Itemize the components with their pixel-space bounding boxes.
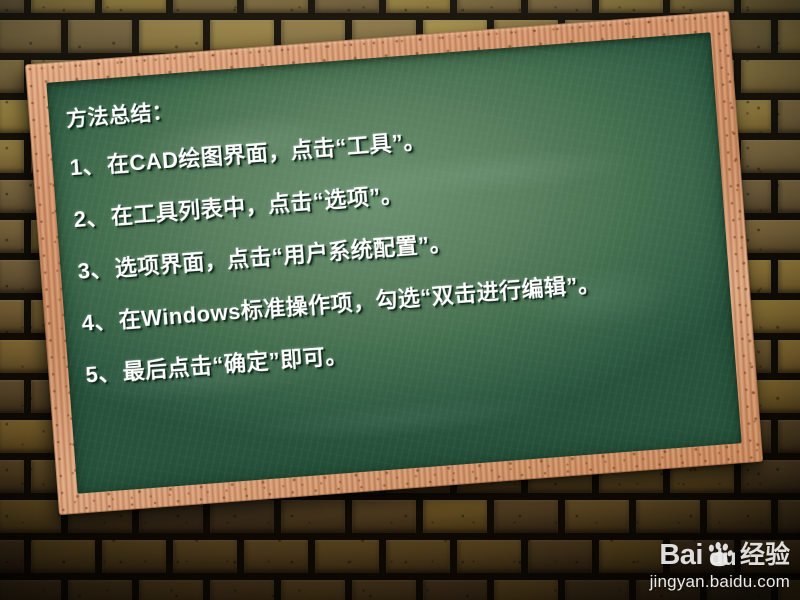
paw-print-icon: du <box>706 542 733 569</box>
baidu-logo: Bai du 经验 <box>650 541 790 570</box>
screenshot-canvas: 方法总结： 1、在CAD绘图界面，点击“工具”。 2、在工具列表中，点击“选项”… <box>0 0 800 600</box>
step-text-3: 选项界面，点击“用户系统配置”。 <box>114 231 453 282</box>
step-number-4: 4、 <box>81 308 118 336</box>
step-text-1: 在CAD绘图界面，点击“工具”。 <box>106 128 427 177</box>
step-number-1: 1、 <box>69 153 106 181</box>
watermark-url: jingyan.baidu.com <box>650 572 790 592</box>
step-number-2: 2、 <box>73 205 110 233</box>
baidu-jingyan-watermark: Bai du 经验 jingyan.baidu.com <box>650 541 790 592</box>
baidu-logo-bai: Bai <box>659 541 703 570</box>
jingyan-label: 经验 <box>740 543 790 568</box>
step-text-5: 最后点击“确定”即可。 <box>122 343 349 385</box>
step-number-3: 3、 <box>77 256 114 284</box>
chalkboard: 方法总结： 1、在CAD绘图界面，点击“工具”。 2、在工具列表中，点击“选项”… <box>25 11 763 515</box>
chalkboard-content: 方法总结： 1、在CAD绘图界面，点击“工具”。 2、在工具列表中，点击“选项”… <box>65 60 750 503</box>
baidu-logo-du: du <box>709 546 736 569</box>
step-text-2: 在工具列表中，点击“选项”。 <box>110 182 404 229</box>
step-text-4: 在Windows标准操作项，勾选“双击进行编辑”。 <box>118 271 601 333</box>
step-number-5: 5、 <box>85 360 122 388</box>
